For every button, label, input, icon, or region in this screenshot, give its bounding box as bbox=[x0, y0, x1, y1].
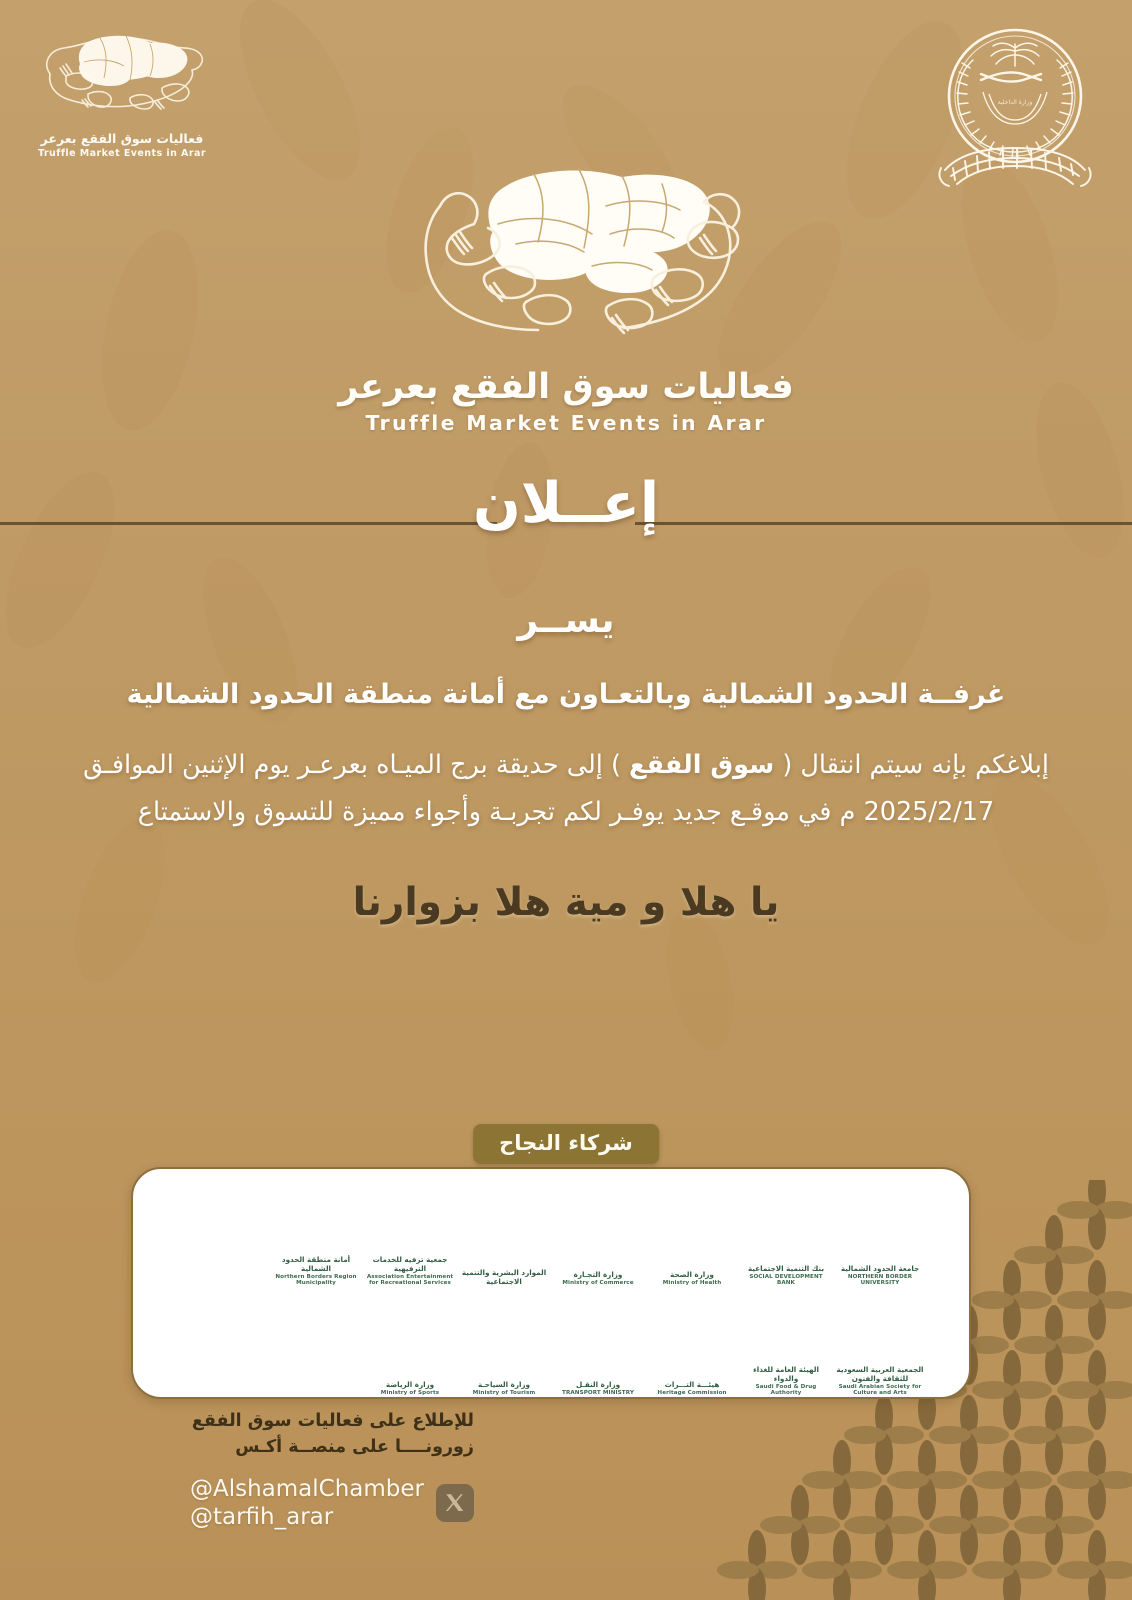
partners-row-2: الجمعية العربية السعودية للثقافة والفنون… bbox=[145, 1295, 957, 1397]
partners-row-1: جامعة الحدود الشمالية NORTHERN BORDER UN… bbox=[145, 1185, 957, 1287]
announcement-organizer: غرفــة الحدود الشمالية وبالتعـاون مع أما… bbox=[32, 677, 1100, 712]
partner-name-en: Northern Borders Region Municipality bbox=[271, 1274, 361, 1287]
partner-tarfih-association: جمعية ترفيه للخدمات الترفيهية Associatio… bbox=[365, 1185, 455, 1287]
main-logo-title-en: Truffle Market Events in Arar bbox=[326, 411, 806, 435]
partner-heritage-commission: هيئـــة التـــراث Heritage Commission bbox=[647, 1295, 737, 1397]
svg-text:وزارة الداخلية: وزارة الداخلية bbox=[998, 99, 1033, 106]
handle-alshamal-chamber[interactable]: @AlshamalChamber bbox=[190, 1475, 424, 1504]
partner-name-en: TRANSPORT MINISTRY bbox=[562, 1390, 634, 1397]
partner-ministry-of-sports: وزارة الرياضة Ministry of Sports bbox=[365, 1295, 455, 1397]
partners-card: جامعة الحدود الشمالية NORTHERN BORDER UN… bbox=[131, 1167, 971, 1399]
header-brand-caption-en: Truffle Market Events in Arar bbox=[22, 148, 222, 159]
partner-islamic-affairs-ministry bbox=[177, 1295, 267, 1397]
hands-holding-truffles-icon bbox=[356, 150, 776, 365]
partner-name-ar: الجمعية العربية السعودية للثقافة والفنون bbox=[835, 1365, 925, 1383]
announcement-paragraph: إبلاغكم بإنه سيتم انتقال ( سوق الفقع ) إ… bbox=[61, 742, 1071, 836]
partner-name-ar: أمانة منطقة الحدود الشمالية bbox=[271, 1255, 361, 1273]
partner-name-ar: بنك التنمية الاجتماعية bbox=[748, 1264, 824, 1273]
ministry-emblem-icon: وزارة الداخلية bbox=[923, 18, 1108, 208]
partner-name-en: Saudi Arabian Society for Culture and Ar… bbox=[835, 1384, 925, 1397]
partner-name-ar: وزارة النقـل bbox=[576, 1380, 620, 1389]
partners-badge: شركاء النجاح bbox=[473, 1124, 659, 1164]
partner-name-en: NORTHERN BORDER UNIVERSITY bbox=[835, 1274, 925, 1287]
footer-note-line-2: زورونــــا على منصــة أكـس bbox=[44, 1434, 474, 1460]
partner-northern-borders-chamber: غرفـة الشمالية NORTHERN BORDER CHAMBER bbox=[177, 1185, 267, 1287]
divider-line-left bbox=[0, 522, 497, 525]
market-name-emphasis: سوق الفقع bbox=[629, 750, 774, 780]
announcement-heading: إعــلان bbox=[473, 476, 659, 532]
partner-name-en: Ministry of Sports bbox=[381, 1390, 439, 1397]
social-handles: @AlshamalChamber @tarfih_arar bbox=[44, 1475, 474, 1533]
partner-ministry-of-health: وزارة الصحة Ministry of Health bbox=[647, 1185, 737, 1287]
partner-name-ar: وزارة الصحة bbox=[670, 1270, 714, 1279]
partner-name-ar: وزارة التجـارة bbox=[574, 1270, 623, 1279]
poster-root: فعاليات سوق الفقع بعرعر Truffle Market E… bbox=[0, 0, 1132, 1600]
partner-transport-ministry: وزارة النقـل TRANSPORT MINISTRY bbox=[553, 1295, 643, 1397]
partner-name-en: Ministry of Health bbox=[663, 1280, 722, 1287]
paragraph-line-3: وأجواء مميزة للتسوق والاستمتاع bbox=[138, 797, 481, 827]
announcement-body: يســر غرفــة الحدود الشمالية وبالتعـاون … bbox=[0, 600, 1132, 925]
footer-note-line-1: للإطلاع على فعاليات سوق الفقع bbox=[44, 1408, 474, 1434]
partner-education-department bbox=[271, 1295, 361, 1397]
partner-name-en: Saudi Food & Drug Authority bbox=[741, 1384, 831, 1397]
announcement-greeting: يا هلا و مية هلا بزوارنا bbox=[32, 880, 1100, 925]
partner-name-ar: هيئـــة التـــراث bbox=[665, 1380, 720, 1389]
partner-name-en: Heritage Commission bbox=[657, 1390, 726, 1397]
main-event-logo: فعاليات سوق الفقع بعرعر Truffle Market E… bbox=[326, 150, 806, 435]
paragraph-line-1-part-b: ) إلى حديقة برج الميـاه بعرعـر bbox=[298, 750, 629, 780]
partner-northern-borders-municipality: أمانة منطقة الحدود الشمالية Northern Bor… bbox=[271, 1185, 361, 1287]
main-logo-title-ar: فعاليات سوق الفقع بعرعر bbox=[326, 367, 806, 407]
partner-name-en: Ministry of Tourism bbox=[473, 1390, 536, 1397]
partner-name-ar: وزارة السياحـة bbox=[478, 1380, 530, 1389]
header-brand-caption-ar: فعاليات سوق الفقع بعرعر bbox=[22, 131, 222, 146]
partner-food-and-drug-authority: الهيئة العامة للغذاء والدواء Saudi Food … bbox=[741, 1295, 831, 1397]
announcement-intro: يســر bbox=[32, 600, 1100, 641]
footer-social: للإطلاع على فعاليات سوق الفقع زورونــــا… bbox=[44, 1408, 474, 1532]
partner-ministry-of-commerce: وزارة التجـارة Ministry of Commerce bbox=[553, 1185, 643, 1287]
partner-name-ar: الهيئة العامة للغذاء والدواء bbox=[741, 1365, 831, 1383]
partner-name-ar: وزارة الرياضة bbox=[386, 1380, 434, 1389]
header-brand-logo: فعاليات سوق الفقع بعرعر Truffle Market E… bbox=[22, 22, 222, 167]
x-twitter-icon[interactable] bbox=[436, 1484, 474, 1522]
partner-northern-border-university: جامعة الحدود الشمالية NORTHERN BORDER UN… bbox=[835, 1185, 925, 1287]
partner-culture-and-arts-society: الجمعية العربية السعودية للثقافة والفنون… bbox=[835, 1295, 925, 1397]
partner-ministry-of-tourism: وزارة السياحـة Ministry of Tourism bbox=[459, 1295, 549, 1397]
partner-name-ar: الموارد البشرية والتنمية الاجتماعية bbox=[459, 1268, 549, 1286]
announcement-divider: إعــلان bbox=[0, 494, 1132, 574]
partner-social-development-bank: بنك التنمية الاجتماعية SOCIAL DEVELOPMEN… bbox=[741, 1185, 831, 1287]
partner-name-ar: جمعية ترفيه للخدمات الترفيهية bbox=[365, 1255, 455, 1273]
partner-name-ar: جامعة الحدود الشمالية bbox=[841, 1264, 919, 1273]
handle-list: @AlshamalChamber @tarfih_arar bbox=[190, 1475, 424, 1533]
partner-name-en: Association Entertainment for Recreation… bbox=[365, 1274, 455, 1287]
handle-tarfih-arar[interactable]: @tarfih_arar bbox=[190, 1503, 424, 1532]
divider-line-right bbox=[635, 522, 1132, 525]
partner-name-en: Ministry of Commerce bbox=[562, 1280, 633, 1287]
paragraph-line-1-part-a: إبلاغكم بإنه سيتم انتقال ( bbox=[774, 750, 1049, 780]
partner-human-resources: الموارد البشرية والتنمية الاجتماعية bbox=[459, 1185, 549, 1287]
partner-name-en: SOCIAL DEVELOPMENT BANK bbox=[741, 1274, 831, 1287]
